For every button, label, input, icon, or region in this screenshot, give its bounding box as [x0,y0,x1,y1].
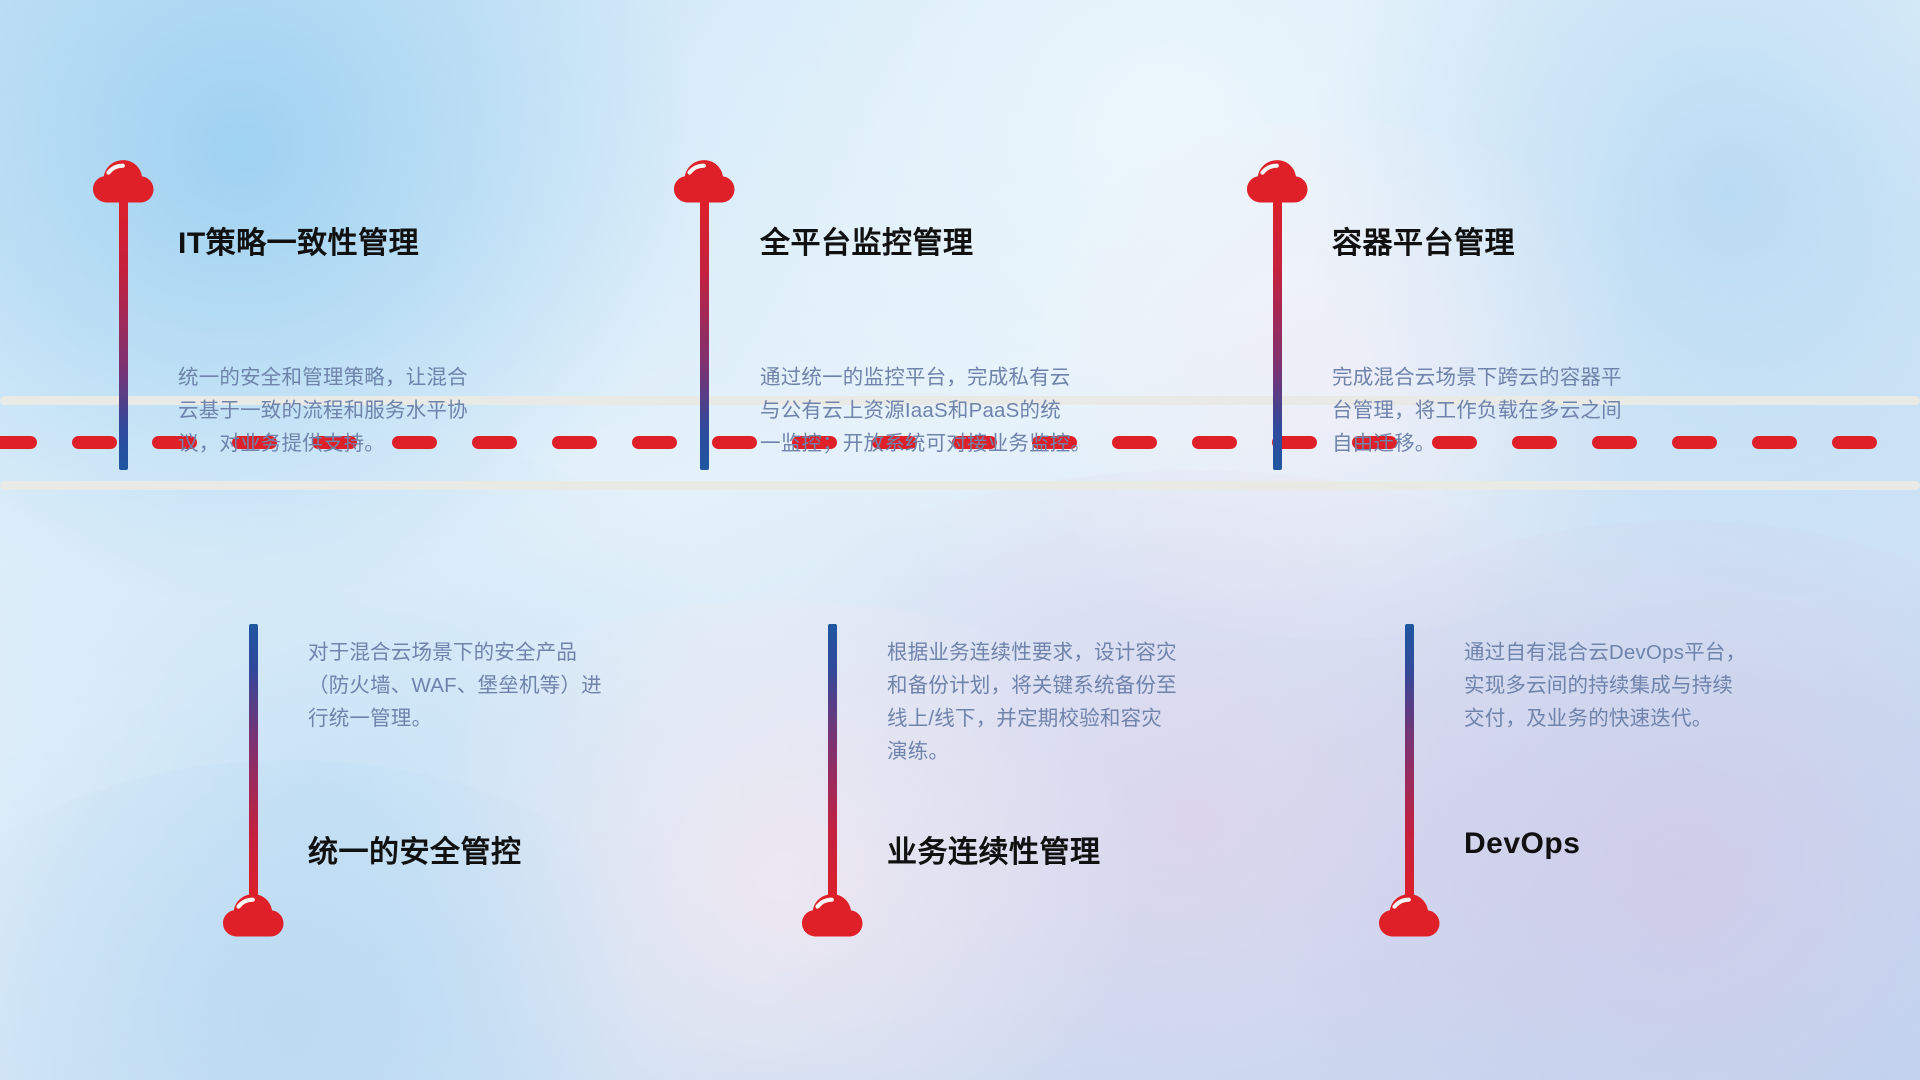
road-dash-segment [0,436,37,449]
road-dash-segment [1832,436,1877,449]
milestone-heading: 全平台监控管理 [760,218,974,262]
milestone-body: 根据业务连续性要求，设计容灾 和备份计划，将关键系统备份至 线上/线下，并定期校… [887,636,1317,768]
milestone-body: 统一的安全和管理策略，让混合 云基于一致的流程和服务水平协 议，对业务提供支持。 [178,361,608,460]
milestone-pin [1405,624,1414,906]
cloud-icon [223,893,285,937]
milestone-heading: 容器平台管理 [1332,218,1515,262]
milestone-heading: IT策略一致性管理 [178,218,419,262]
milestone-body: 通过统一的监控平台，完成私有云 与公有云上资源IaaS和PaaS的统 一监控；开… [760,361,1210,460]
background [0,0,1920,1080]
milestone-pin [700,195,709,470]
milestone-pin [828,624,837,906]
milestone-pin [249,624,258,906]
milestone-body: 通过自有混合云DevOps平台， 实现多云间的持续集成与持续 交付，及业务的快速… [1464,636,1894,735]
cloud-icon [1379,893,1441,937]
road-dash-segment [712,436,757,449]
road-dash-segment [72,436,117,449]
milestone-body: 对于混合云场景下的安全产品 （防火墙、WAF、堡垒机等）进 行统一管理。 [308,636,738,735]
milestone-heading: 业务连续性管理 [887,827,1101,871]
cloud-icon [802,893,864,937]
milestone-pin [1273,195,1282,470]
milestone-heading: DevOps [1464,827,1580,861]
milestone-pin [119,195,128,470]
road-dash-segment [632,436,677,449]
milestone-body: 完成混合云场景下跨云的容器平 台管理，将工作负载在多云之间 自由迁移。 [1332,361,1762,460]
road-edge-bottom [0,481,1920,490]
milestone-heading: 统一的安全管控 [308,827,522,871]
